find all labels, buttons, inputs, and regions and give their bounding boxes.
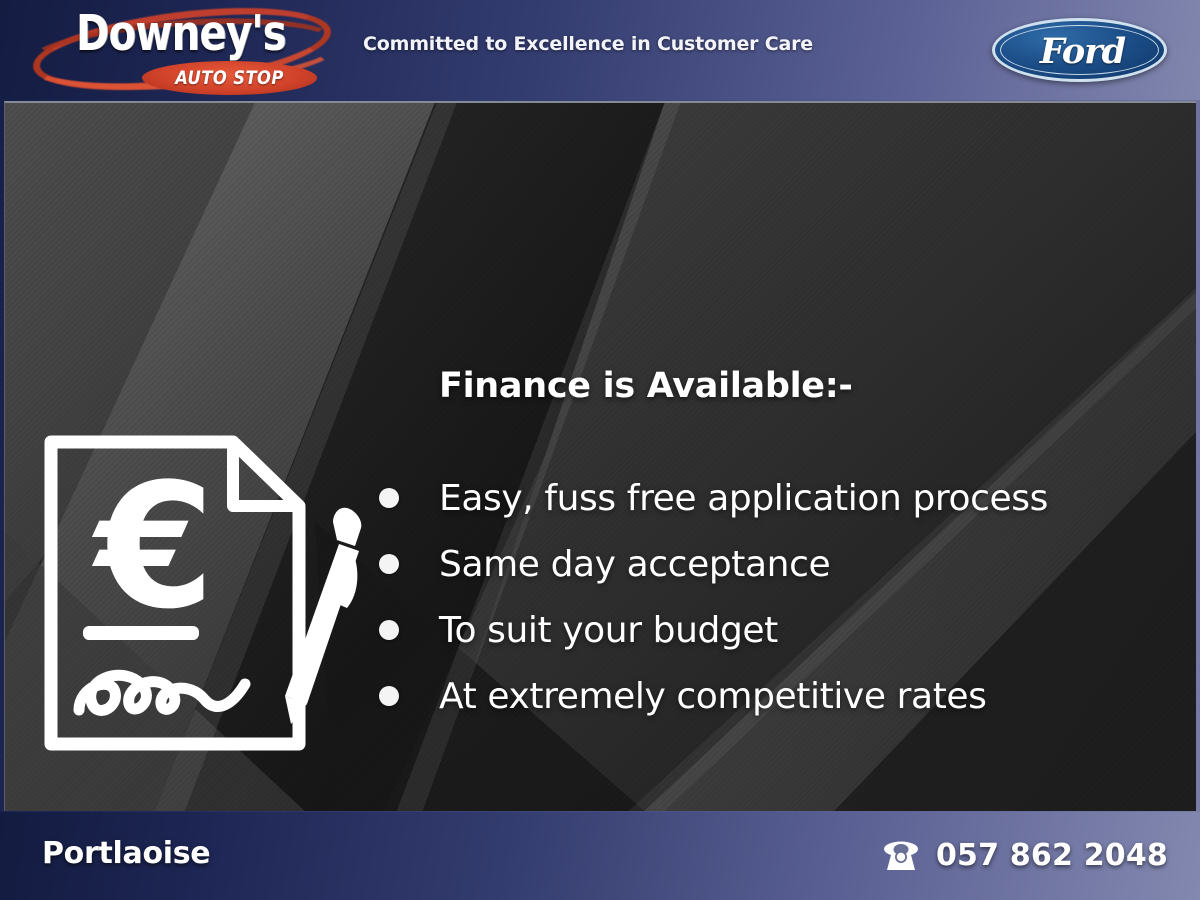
logo-subtitle: AUTO STOP — [154, 64, 305, 92]
footer-bar: Portlaoise 057 862 2048 — [0, 812, 1200, 900]
company-tagline: Committed to Excellence in Customer Care — [363, 33, 813, 55]
header-bar: Downey's AUTO STOP Committed to Excellen… — [0, 0, 1200, 100]
svg-text:€: € — [91, 446, 215, 647]
phone-contact[interactable]: 057 862 2048 — [882, 838, 1168, 873]
telephone-icon — [882, 840, 920, 872]
benefits-list: Easy, fuss free application process Same… — [379, 465, 1179, 729]
list-item-label: Easy, fuss free application process — [439, 478, 1048, 519]
logo-wordmark: Downey's — [76, 5, 286, 62]
downeys-logo[interactable]: Downey's AUTO STOP — [18, 2, 348, 98]
ford-logo[interactable]: Ford — [992, 18, 1167, 82]
phone-number: 057 862 2048 — [936, 838, 1168, 873]
list-item: At extremely competitive rates — [379, 663, 1179, 729]
bullet-dot-icon — [379, 686, 399, 706]
list-item: To suit your budget — [379, 597, 1179, 663]
list-item-label: To suit your budget — [439, 610, 778, 651]
main-panel: € Finance is Available:- Easy, fuss free… — [4, 101, 1196, 811]
bullet-dot-icon — [379, 620, 399, 640]
list-item-label: Same day acceptance — [439, 544, 830, 585]
euro-document-signature-icon: € — [37, 428, 367, 758]
list-item: Same day acceptance — [379, 531, 1179, 597]
bullet-dot-icon — [379, 488, 399, 508]
list-item: Easy, fuss free application process — [379, 465, 1179, 531]
branch-location-label: Portlaoise — [42, 836, 210, 871]
bullet-dot-icon — [379, 554, 399, 574]
ford-wordmark: Ford — [995, 21, 1170, 85]
list-item-label: At extremely competitive rates — [439, 676, 987, 717]
advertisement-banner: Downey's AUTO STOP Committed to Excellen… — [0, 0, 1200, 900]
panel-heading: Finance is Available:- — [439, 366, 853, 406]
